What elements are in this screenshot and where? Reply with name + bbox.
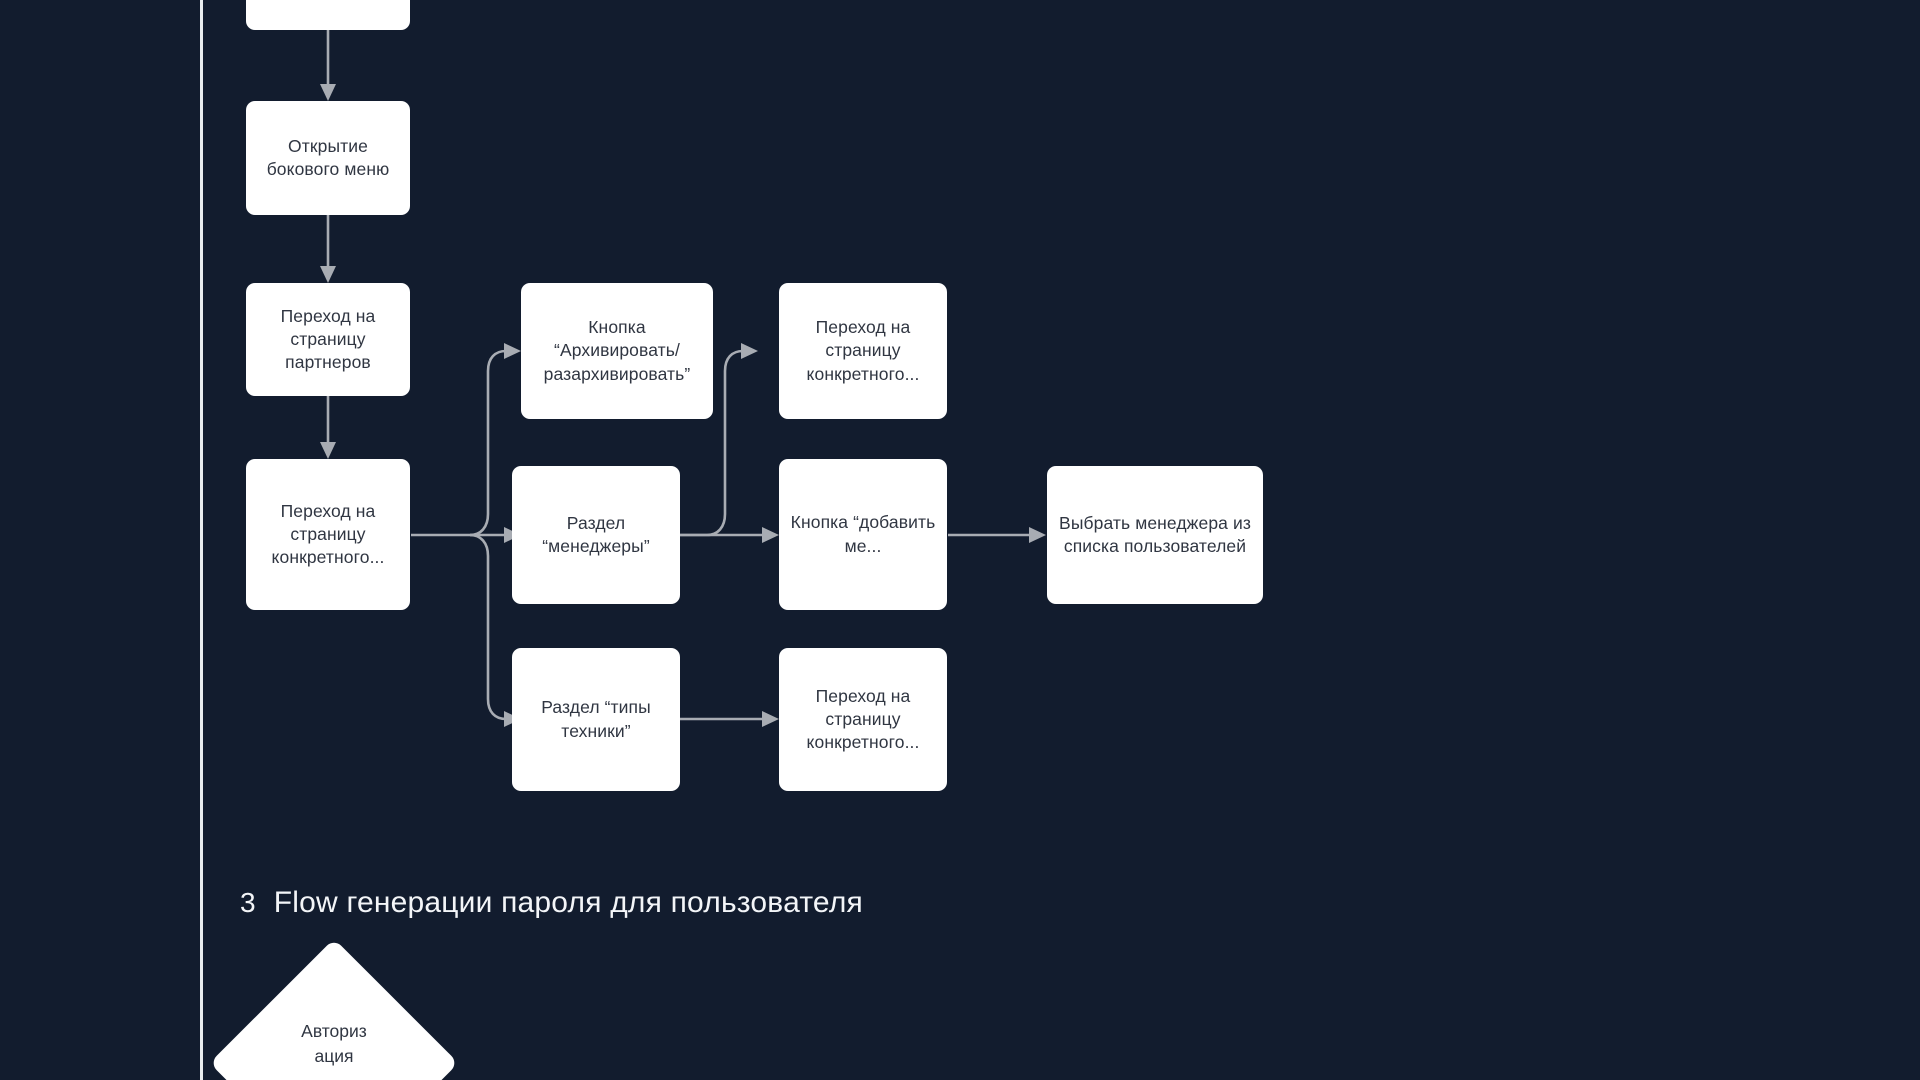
node-archive-result-page[interactable]: Переход на страницу конкретного... [779, 283, 947, 419]
connector-partners-to-specific-partner [320, 396, 336, 459]
connector-managers-to-add-manager [680, 527, 779, 543]
node-managers-section[interactable]: Раздел “менеджеры” [512, 466, 680, 604]
node-open-side-menu-label: Открытие бокового меню [256, 135, 400, 181]
node-add-manager-button-label: Кнопка “добавить ме... [789, 511, 937, 557]
node-pick-manager-label: Выбрать менеджера из списка пользователе… [1057, 512, 1253, 558]
node-equipment-type-page-label: Переход на страницу конкретного... [789, 685, 937, 754]
node-archive-button[interactable]: Кнопка “Архивировать/разархивировать” [521, 283, 713, 419]
node-equipment-type-page[interactable]: Переход на страницу конкретного... [779, 648, 947, 791]
node-archive-button-label: Кнопка “Архивировать/разархивировать” [531, 316, 703, 385]
node-archive-result-page-label: Переход на страницу конкретного... [789, 316, 937, 385]
diagram-canvas: Открытие бокового меню Переход на страни… [0, 0, 1920, 1080]
node-pick-manager[interactable]: Выбрать менеджера из списка пользователе… [1047, 466, 1263, 604]
section-title: Flow генерации пароля для пользователя [274, 886, 863, 920]
section-heading: 3 Flow генерации пароля для пользователя [240, 886, 863, 920]
connector-equipment-types-to-page [680, 711, 779, 727]
connector-add-manager-to-pick-manager [948, 527, 1046, 543]
node-equipment-types-section-label: Раздел “типы техники” [522, 696, 670, 742]
node-partners-page-label: Переход на страницу партнеров [256, 305, 400, 374]
node-open-side-menu[interactable]: Открытие бокового меню [246, 101, 410, 215]
connector-top-to-open-side-menu [320, 30, 336, 101]
node-specific-partner-page[interactable]: Переход на страницу конкретного... [246, 459, 410, 610]
node-managers-section-label: Раздел “менеджеры” [522, 512, 670, 558]
node-specific-partner-page-label: Переход на страницу конкретного... [256, 500, 400, 569]
section-number: 3 [240, 887, 256, 919]
node-top-clipped[interactable] [246, 0, 410, 30]
node-partners-page[interactable]: Переход на страницу партнеров [246, 283, 410, 396]
connector-open-side-menu-to-partners [320, 215, 336, 283]
node-add-manager-button[interactable]: Кнопка “добавить ме... [779, 459, 947, 610]
node-equipment-types-section[interactable]: Раздел “типы техники” [512, 648, 680, 791]
